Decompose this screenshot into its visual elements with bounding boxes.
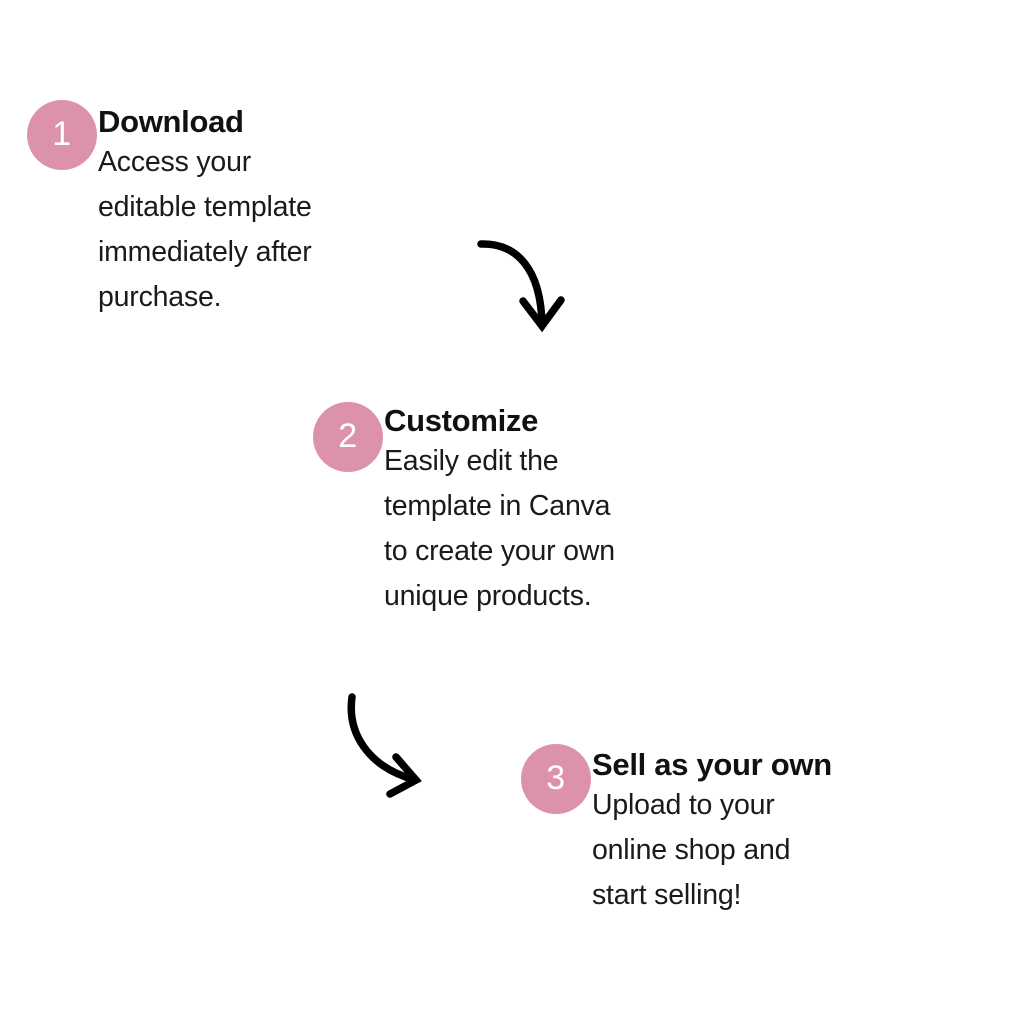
step-3-text-block: Sell as your own Upload to your online s…	[592, 747, 1012, 918]
step-2-text-block: Customize Easily edit the template in Ca…	[384, 403, 784, 619]
step-2-body-line: to create your own	[384, 529, 784, 574]
step-1-number-label: 1	[52, 117, 71, 151]
step-3-body: Upload to your online shop and start sel…	[592, 783, 1012, 918]
step-3-body-line: start selling!	[592, 873, 1012, 918]
step-1-body-line: purchase.	[98, 275, 498, 320]
step-1-body-line: immediately after	[98, 230, 498, 275]
step-3-number-badge: 3	[521, 744, 591, 814]
step-2-body: Easily edit the template in Canva to cre…	[384, 439, 784, 619]
step-1-body-line: Access your	[98, 140, 498, 185]
step-3-number-label: 3	[546, 761, 565, 795]
step-2-body-line: Easily edit the	[384, 439, 784, 484]
step-2-number-label: 2	[338, 419, 357, 453]
step-3-body-line: online shop and	[592, 828, 1012, 873]
step-1-body: Access your editable template immediatel…	[98, 140, 498, 320]
step-3-body-line: Upload to your	[592, 783, 1012, 828]
step-2-body-line: unique products.	[384, 574, 784, 619]
step-2-heading: Customize	[384, 403, 784, 439]
step-1-heading: Download	[98, 104, 498, 140]
step-3-heading: Sell as your own	[592, 747, 1012, 783]
step-1-text-block: Download Access your editable template i…	[98, 104, 498, 320]
step-1-body-line: editable template	[98, 185, 498, 230]
curved-arrow-step2-to-step3	[340, 686, 450, 806]
step-2-body-line: template in Canva	[384, 484, 784, 529]
step-1-number-badge: 1	[27, 100, 97, 170]
step-2-number-badge: 2	[313, 402, 383, 472]
infographic-canvas: 1 Download Access your editable template…	[0, 0, 1024, 1024]
